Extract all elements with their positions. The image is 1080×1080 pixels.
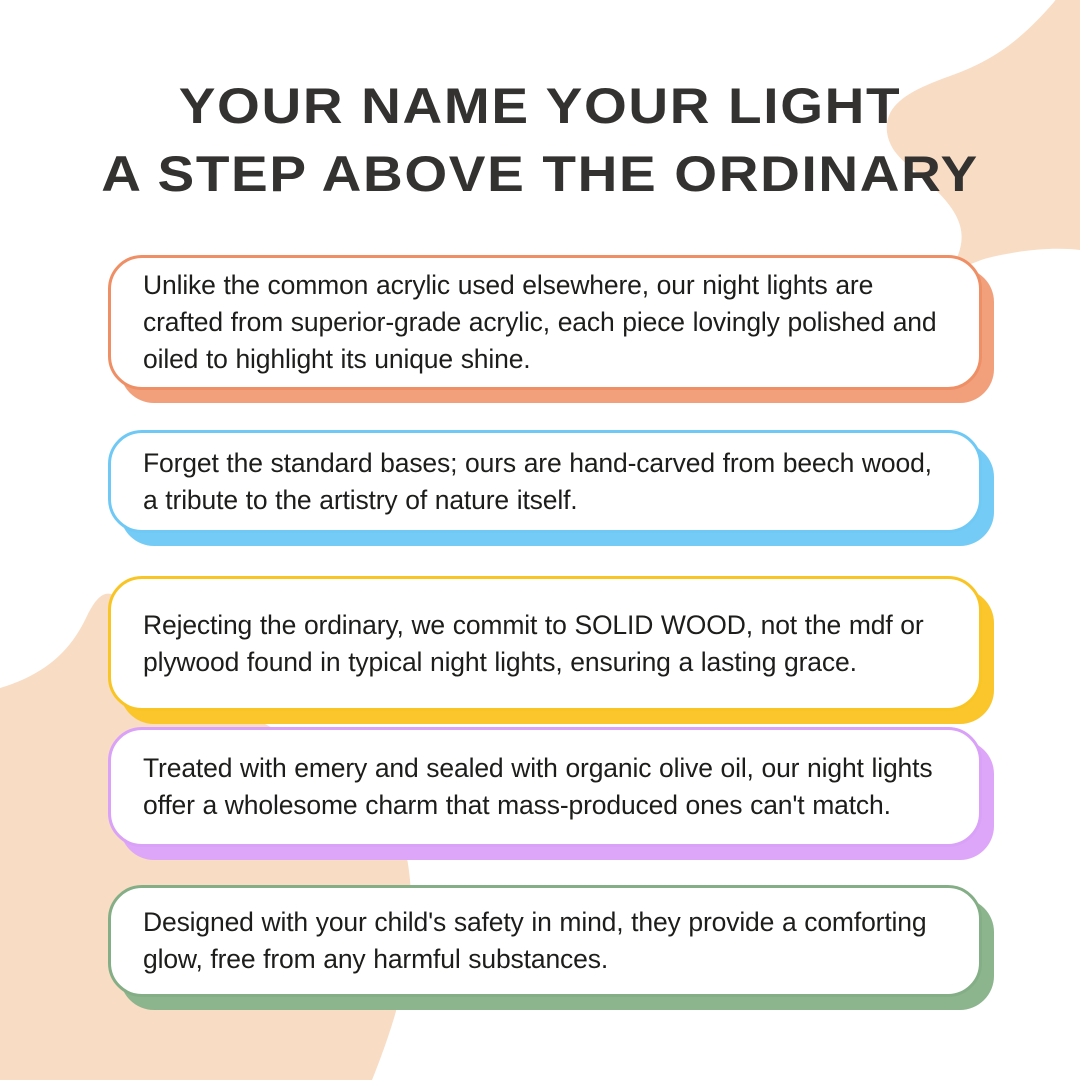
card-text: Designed with your child's safety in min… [143, 904, 949, 978]
card-face: Rejecting the ordinary, we commit to SOL… [108, 576, 982, 711]
card-face: Forget the standard bases; ours are hand… [108, 430, 982, 533]
benefit-card-beech-wood: Forget the standard bases; ours are hand… [108, 430, 982, 533]
benefit-card-solid-wood: Rejecting the ordinary, we commit to SOL… [108, 576, 982, 711]
card-face: Unlike the common acrylic used elsewhere… [108, 255, 982, 390]
headline-line-2: A STEP ABOVE THE ORDINARY [0, 140, 1080, 208]
benefit-card-olive-oil: Treated with emery and sealed with organ… [108, 727, 982, 847]
card-text: Forget the standard bases; ours are hand… [143, 445, 949, 519]
page-title: YOUR NAME YOUR LIGHT A STEP ABOVE THE OR… [0, 72, 1080, 208]
card-text: Treated with emery and sealed with organ… [143, 750, 949, 824]
card-text: Unlike the common acrylic used elsewhere… [143, 267, 949, 378]
benefit-card-acrylic: Unlike the common acrylic used elsewhere… [108, 255, 982, 390]
card-face: Treated with emery and sealed with organ… [108, 727, 982, 847]
poster-canvas: YOUR NAME YOUR LIGHT A STEP ABOVE THE OR… [0, 0, 1080, 1080]
card-face: Designed with your child's safety in min… [108, 885, 982, 997]
card-text: Rejecting the ordinary, we commit to SOL… [143, 607, 949, 681]
headline-line-1: YOUR NAME YOUR LIGHT [0, 72, 1080, 140]
benefit-card-child-safety: Designed with your child's safety in min… [108, 885, 982, 997]
